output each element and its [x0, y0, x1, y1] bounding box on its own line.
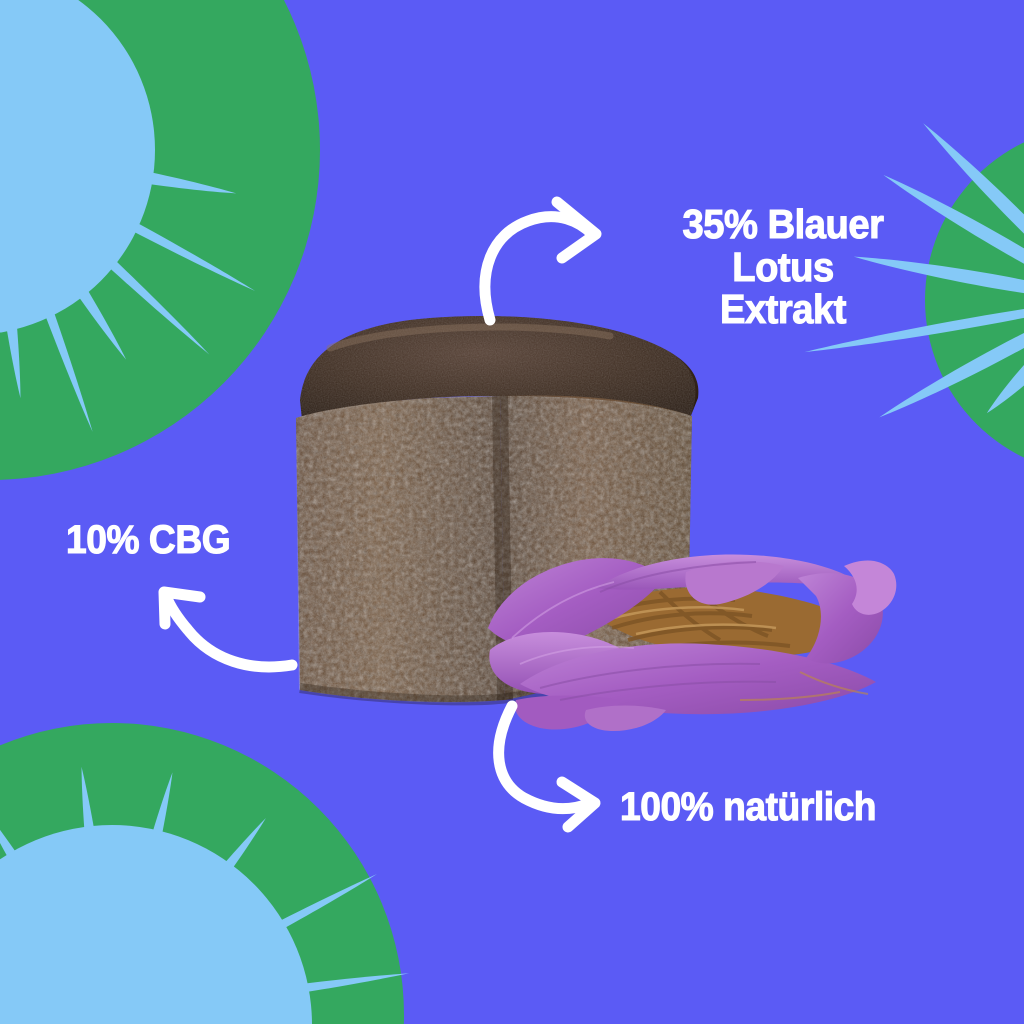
product-promo-canvas: 35% Blauer Lotus Extrakt 10% CBG 100% na… — [0, 0, 1024, 1024]
label-natural-claim: 100% natürlich — [620, 787, 876, 829]
label-lotus-line1: 35% Blauer Lotus — [630, 203, 937, 288]
curved-arrow-down-right-icon — [499, 706, 595, 827]
label-lotus-extract: 35% Blauer Lotus Extrakt — [630, 203, 937, 331]
arrow-layer — [0, 0, 1024, 1024]
label-cbg-content: 10% CBG — [66, 520, 230, 562]
label-lotus-line2: Extrakt — [630, 288, 937, 331]
curved-arrow-up-left-icon — [164, 592, 292, 667]
curved-arrow-up-right-icon — [485, 202, 596, 320]
